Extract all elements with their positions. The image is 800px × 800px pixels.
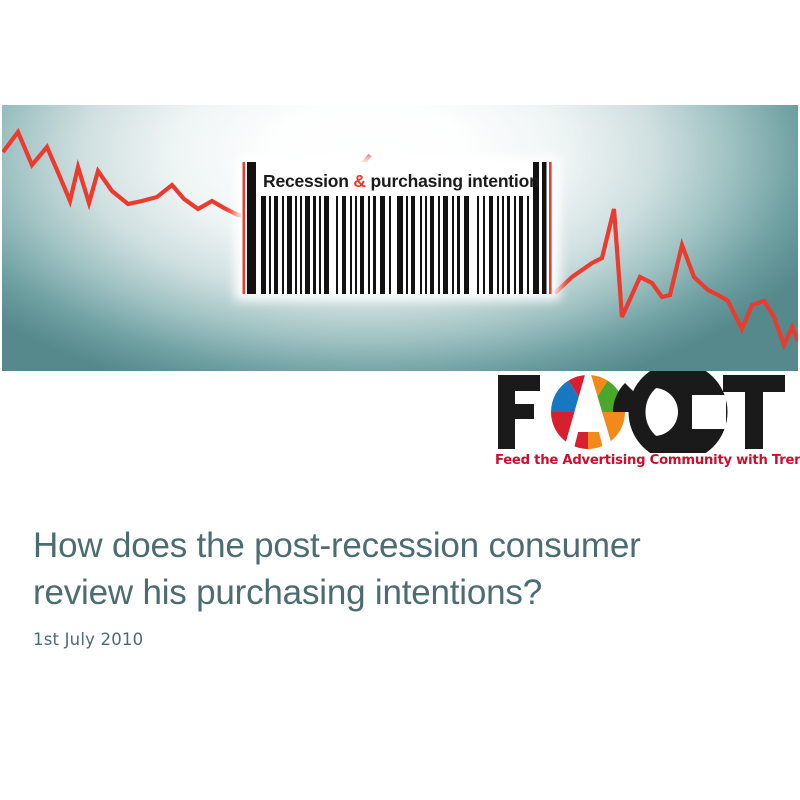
barcode-graphic: Recession & purchasing intention <box>241 162 554 294</box>
barcode-left-red-rule <box>243 162 246 294</box>
fact-wordmark-graphic <box>492 371 792 453</box>
fact-logo: Feed the Advertising Community with Tren… <box>492 371 792 476</box>
title-block: How does the post-recession consumerrevi… <box>33 522 773 616</box>
barcode-title-prefix: Recession <box>263 171 353 191</box>
fact-tagline: Feed the Advertising Community with Tren… <box>495 453 789 468</box>
barcode-title: Recession & purchasing intention <box>263 169 535 193</box>
logo-letter-t <box>723 375 785 449</box>
logo-letter-f <box>498 375 540 449</box>
logo-letter-c <box>613 371 726 453</box>
page-title-line-2: review his purchasing intentions? <box>33 573 542 612</box>
trend-line-right <box>555 209 798 345</box>
barcode-title-ampersand: & <box>353 171 365 191</box>
barcode-title-suffix: purchasing intention <box>366 171 540 191</box>
barcode-right-red-rule <box>549 162 552 294</box>
page-date: 1st July 2010 <box>33 630 143 649</box>
page-title-line-1: How does the post-recession consumer <box>33 526 641 565</box>
page-title: How does the post-recession consumerrevi… <box>33 522 773 616</box>
